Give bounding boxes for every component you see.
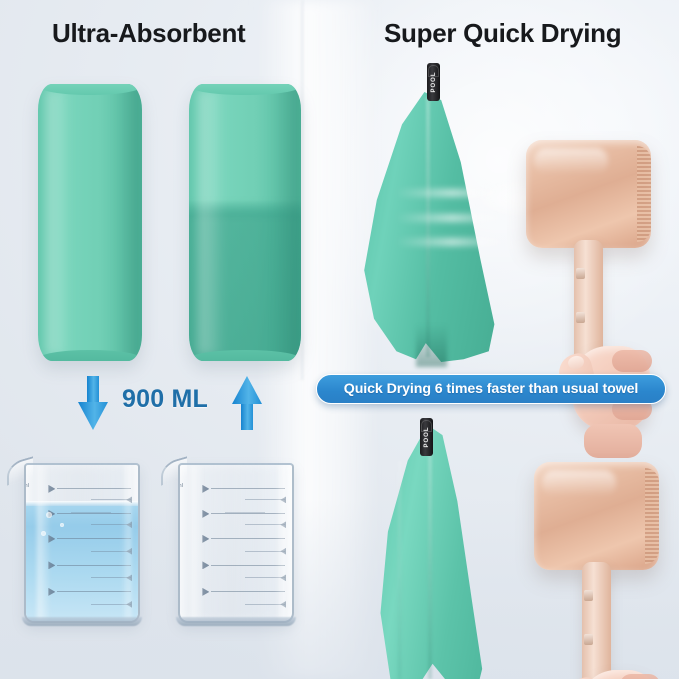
beaker-glass: 1000ml 900ml 800ml 700ml 600ml	[24, 463, 140, 623]
rolled-towel-dry	[38, 84, 142, 361]
towel-shadow	[115, 84, 142, 361]
arrow-stem	[87, 376, 99, 406]
graduation-label: 600ml	[24, 533, 26, 539]
dryer-rear-grille	[645, 468, 659, 564]
arrow-stem	[241, 400, 253, 430]
towel-tip-shadow	[416, 324, 447, 367]
towel-fold	[398, 461, 401, 679]
beaker-base	[22, 617, 142, 626]
graduation-label: 200ml	[178, 586, 180, 592]
towel-fabric	[378, 425, 502, 679]
product-infographic: Ultra-Absorbent Super Quick Drying 900 M…	[0, 0, 679, 679]
hand-holding-dryer	[566, 644, 662, 679]
towel-fabric	[360, 92, 500, 362]
towel-highlight	[198, 90, 225, 356]
arrow-up-icon	[232, 376, 262, 430]
hanging-loop-tag: POOL	[427, 63, 440, 101]
graduation-label: 200ml	[24, 586, 26, 592]
quick-drying-banner: Quick Drying 6 times faster than usual t…	[316, 374, 666, 404]
dryer-button[interactable]	[576, 268, 585, 279]
beaker-filled: 1000ml 900ml 800ml 700ml 600ml	[18, 455, 144, 623]
graduation-major: 1000ml	[57, 488, 131, 489]
beaker-empty: 1000ml 900ml 800ml 700ml 600ml	[172, 455, 298, 623]
graduation-major: 600ml	[211, 538, 285, 539]
airflow-glow	[470, 176, 530, 220]
hanging-towel-still	[378, 425, 502, 679]
graduation-label: 600ml	[178, 533, 180, 539]
graduation-major: 600ml	[57, 538, 131, 539]
water-bubble	[60, 523, 64, 527]
graduation-major: 400ml	[57, 565, 131, 566]
hanging-loop-tag: POOL	[420, 418, 433, 456]
heading-super-quick-drying: Super Quick Drying	[384, 18, 621, 49]
dryer-barrel	[534, 462, 659, 570]
wrist	[584, 424, 642, 458]
graduation-major: 1000ml	[211, 488, 285, 489]
graduation-label: 800ml	[178, 508, 180, 514]
beaker-glass: 1000ml 900ml 800ml 700ml 600ml	[178, 463, 294, 623]
rolled-towel-wet	[189, 84, 301, 361]
dryer-button[interactable]	[584, 590, 593, 601]
airflow-streak	[396, 238, 508, 246]
towel-roll-bottom	[189, 350, 301, 361]
arrow-down-icon	[78, 376, 108, 430]
glass-highlight-left	[37, 465, 50, 621]
glass-highlight-left	[191, 465, 204, 621]
dryer-barrel	[526, 140, 651, 248]
graduation-label: 400ml	[24, 560, 26, 566]
hanging-towel-blowing	[360, 92, 500, 362]
glass-highlight-right	[121, 465, 131, 621]
tag-brand-text: POOL	[431, 71, 437, 92]
towel-shadow	[272, 84, 301, 361]
glass-highlight-right	[275, 465, 285, 621]
graduation-major: 800ml	[57, 513, 131, 514]
arrow-head	[232, 376, 262, 404]
graduation-major: 200ml	[57, 591, 131, 592]
towel-roll-bottom	[38, 350, 142, 361]
knuckle	[620, 674, 660, 679]
towel-fold	[428, 433, 432, 679]
dryer-gloss	[534, 148, 608, 174]
graduation-major: 400ml	[211, 565, 285, 566]
heading-ultra-absorbent: Ultra-Absorbent	[52, 18, 245, 49]
beaker-base	[176, 617, 296, 626]
dryer-rear-grille	[637, 146, 651, 242]
volume-label: 900 ML	[122, 385, 208, 414]
graduation-label: 400ml	[178, 560, 180, 566]
tag-brand-text: POOL	[424, 426, 430, 447]
towel-fold	[426, 97, 430, 356]
towel-highlight	[46, 90, 71, 356]
graduation-label: 800ml	[24, 508, 26, 514]
graduation-major: 800ml	[211, 513, 285, 514]
dryer-gloss	[542, 470, 616, 496]
knuckle	[612, 350, 652, 372]
graduation-major: 200ml	[211, 591, 285, 592]
graduation-label: 1000ml	[24, 483, 29, 489]
banner-text: Quick Drying 6 times faster than usual t…	[344, 381, 638, 397]
arrow-head	[78, 402, 108, 430]
graduation-label: 1000ml	[178, 483, 183, 489]
